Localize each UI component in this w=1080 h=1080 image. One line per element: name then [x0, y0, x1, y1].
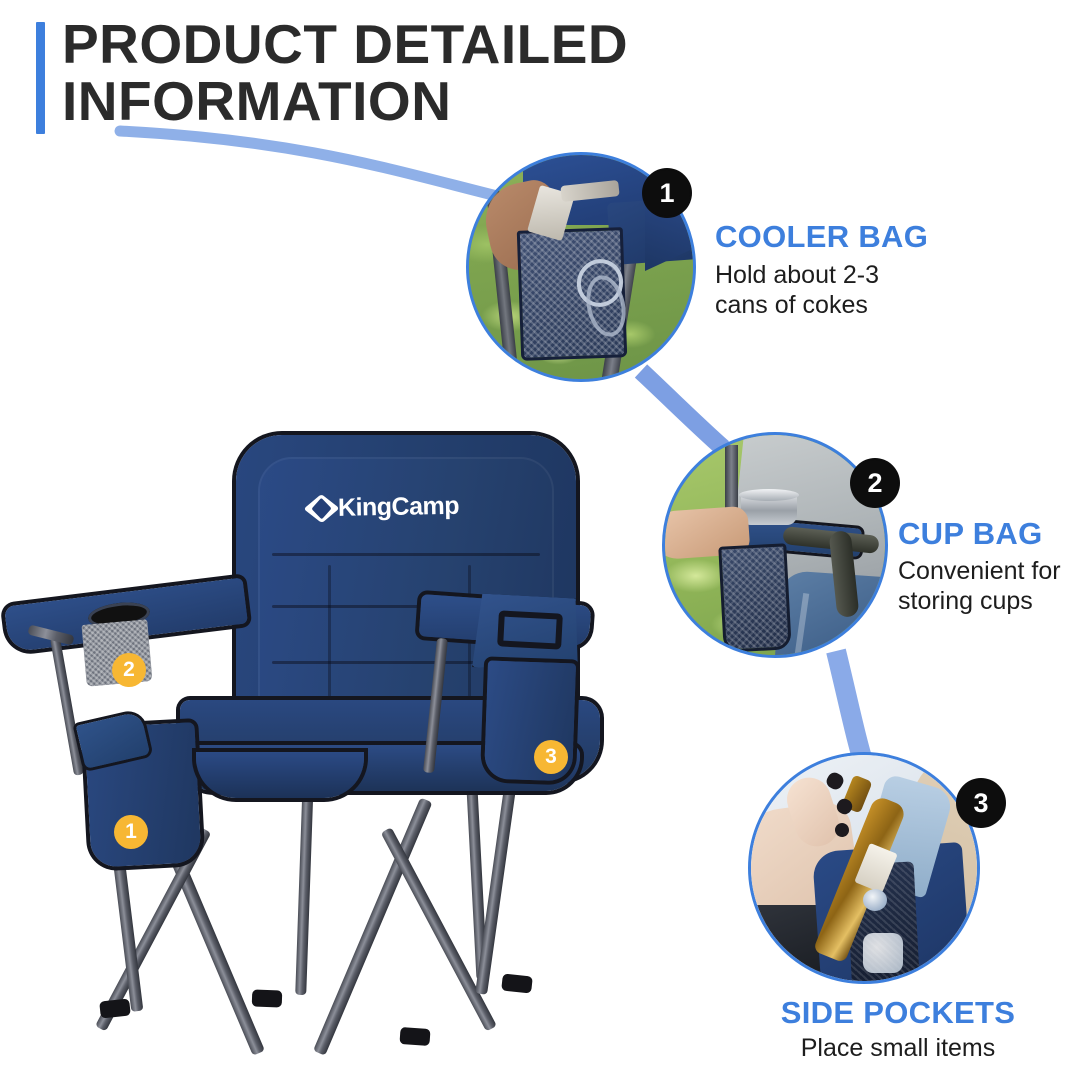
callout-badge-3: 3 [958, 780, 1004, 826]
poster-canvas: PRODUCT DETAILED INFORMATION [0, 0, 1080, 1080]
callout-desc-3: Place small items [748, 1033, 1048, 1063]
callout-title-3: SIDE POCKETS [748, 996, 1048, 1030]
callout-title-2: CUP BAG [898, 517, 1043, 551]
callout-title-1: COOLER BAG [715, 220, 928, 254]
brand-logo: KingCamp [310, 489, 461, 526]
callout-photo-3 [748, 752, 980, 984]
product-marker-2: 2 [112, 653, 146, 687]
product-image-camping-chair: KingCamp 2 1 3 [0, 400, 620, 1060]
callout-badge-2: 2 [852, 460, 898, 506]
callout-desc-2: Convenient for storing cups [898, 556, 1080, 616]
callout-photo-2 [662, 432, 888, 658]
side-pocket-handle [497, 610, 563, 649]
callout-desc-1: Hold about 2-3 cans of cokes [715, 260, 1035, 320]
product-marker-3: 3 [534, 740, 568, 774]
product-marker-1: 1 [114, 815, 148, 849]
seat-front-lip [196, 752, 364, 798]
callout-badge-1: 1 [644, 170, 690, 216]
brand-name: KingCamp [338, 491, 459, 522]
